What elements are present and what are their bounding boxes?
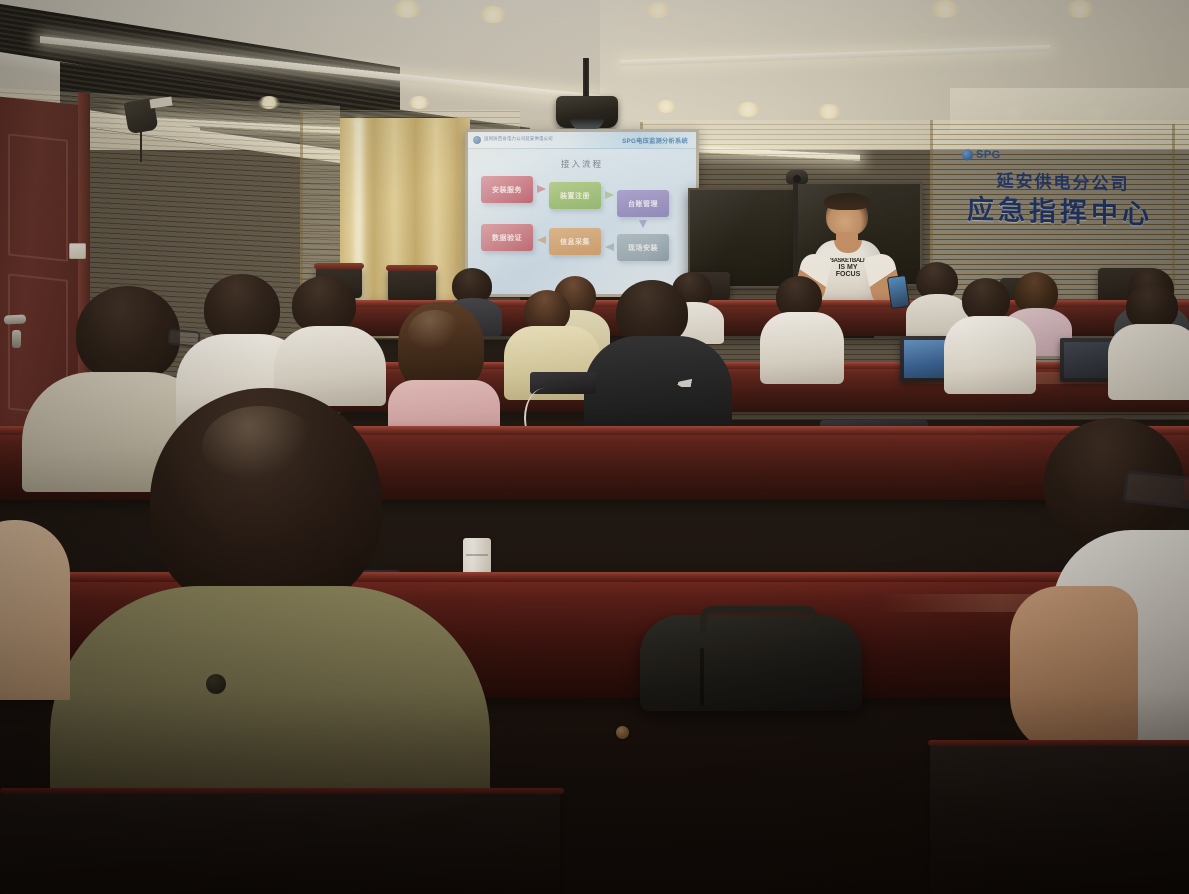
flow-label: 台账管理 xyxy=(628,199,658,209)
flow-box-device-registration: 装置注册 xyxy=(549,182,601,209)
downlight-5 xyxy=(1065,0,1095,18)
shirt-line-3: FOCUS xyxy=(826,271,870,278)
front-chair-1-top xyxy=(386,265,438,271)
projection-screen: 国网陕西省电力公司延安供电公司 SPG电压监测分析系统 接入流程 安装服务 装置… xyxy=(468,132,696,294)
hair-highlight xyxy=(202,406,318,486)
flow-arrow-1 xyxy=(537,185,546,194)
chair-foreground-left-top xyxy=(0,788,564,794)
chair-foreground-left[interactable] xyxy=(0,792,560,894)
spg-logo-icon xyxy=(962,149,973,160)
display-panel-stand xyxy=(793,184,798,279)
flow-box-install-service: 安装服务 xyxy=(481,176,533,203)
flow-label: 现场安装 xyxy=(628,243,658,253)
front-chair-1[interactable] xyxy=(388,268,436,302)
cup-print-band xyxy=(466,554,488,556)
flow-box-data-verification: 数据验证 xyxy=(481,224,533,251)
attendee-body xyxy=(0,520,70,700)
downlight-2 xyxy=(479,6,507,23)
downlight-6 xyxy=(736,102,760,117)
downlight-3 xyxy=(645,2,671,18)
flow-arrow-4 xyxy=(605,243,614,252)
emergency-command-center-banner: SPG 延安供电分公司 应急指挥中心 xyxy=(946,141,1174,243)
flow-label: 装置注册 xyxy=(560,191,590,201)
flow-arrow-3 xyxy=(639,220,648,229)
downlight-11 xyxy=(408,96,430,109)
shirt-button-icon xyxy=(206,674,226,694)
flow-arrow-5 xyxy=(537,236,546,245)
door-handle[interactable] xyxy=(4,314,26,324)
backpack-handle[interactable] xyxy=(700,606,818,633)
slide-page-title: 接入流程 xyxy=(468,158,696,170)
camera-lens-icon xyxy=(793,175,801,183)
door-panel-upper xyxy=(8,133,68,261)
flow-box-ledger-management: 台账管理 xyxy=(617,190,669,217)
presenter-hair xyxy=(824,193,870,210)
attendee-body xyxy=(944,316,1036,394)
speaker-cable xyxy=(140,128,142,162)
attendee-body xyxy=(760,312,844,384)
flow-label: 安装服务 xyxy=(492,185,522,195)
slide-system-title: SPG电压监测分析系统 xyxy=(622,136,688,145)
door-lock[interactable] xyxy=(12,330,21,348)
slide-company-name: 国网陕西省电力公司延安供电公司 xyxy=(484,136,553,142)
flow-label: 信息采集 xyxy=(560,237,590,247)
flow-box-info-collection: 信息采集 xyxy=(549,228,601,255)
attendee-head xyxy=(76,286,180,382)
projector-mount-pole xyxy=(583,58,589,100)
chair-foreground-right-top xyxy=(928,740,1189,746)
wall-light-switch[interactable] xyxy=(69,243,86,259)
attendee-body xyxy=(1108,324,1189,400)
downlight-7 xyxy=(817,104,841,119)
banner-center-line: 应急指挥中心 xyxy=(954,187,1166,232)
spg-brand-text: SPG xyxy=(976,149,1001,162)
front-chair-2-top xyxy=(314,263,364,269)
downlight-1 xyxy=(392,0,422,18)
slide-flowchart: 安装服务 装置注册 台账管理 现场安装 xyxy=(481,176,683,276)
projection-screen-frame: 国网陕西省电力公司延安供电公司 SPG电压监测分析系统 接入流程 安装服务 装置… xyxy=(465,129,699,297)
hair-highlight xyxy=(408,310,462,354)
downlight-4 xyxy=(930,0,960,18)
downlight-12 xyxy=(656,100,676,113)
slide-company-logo-icon xyxy=(473,136,481,144)
flow-box-field-installation: 现场安装 xyxy=(617,234,669,261)
chair-foreground-right[interactable] xyxy=(930,744,1189,894)
flow-label: 数据验证 xyxy=(492,233,522,243)
desk-stud-left xyxy=(616,726,629,739)
conference-room-photo: 国网陕西省电力公司延安供电公司 SPG电压监测分析系统 接入流程 安装服务 装置… xyxy=(0,0,1189,894)
backpack-seam xyxy=(700,648,704,706)
attendee-arm xyxy=(1010,586,1138,756)
flow-arrow-2 xyxy=(605,191,614,200)
